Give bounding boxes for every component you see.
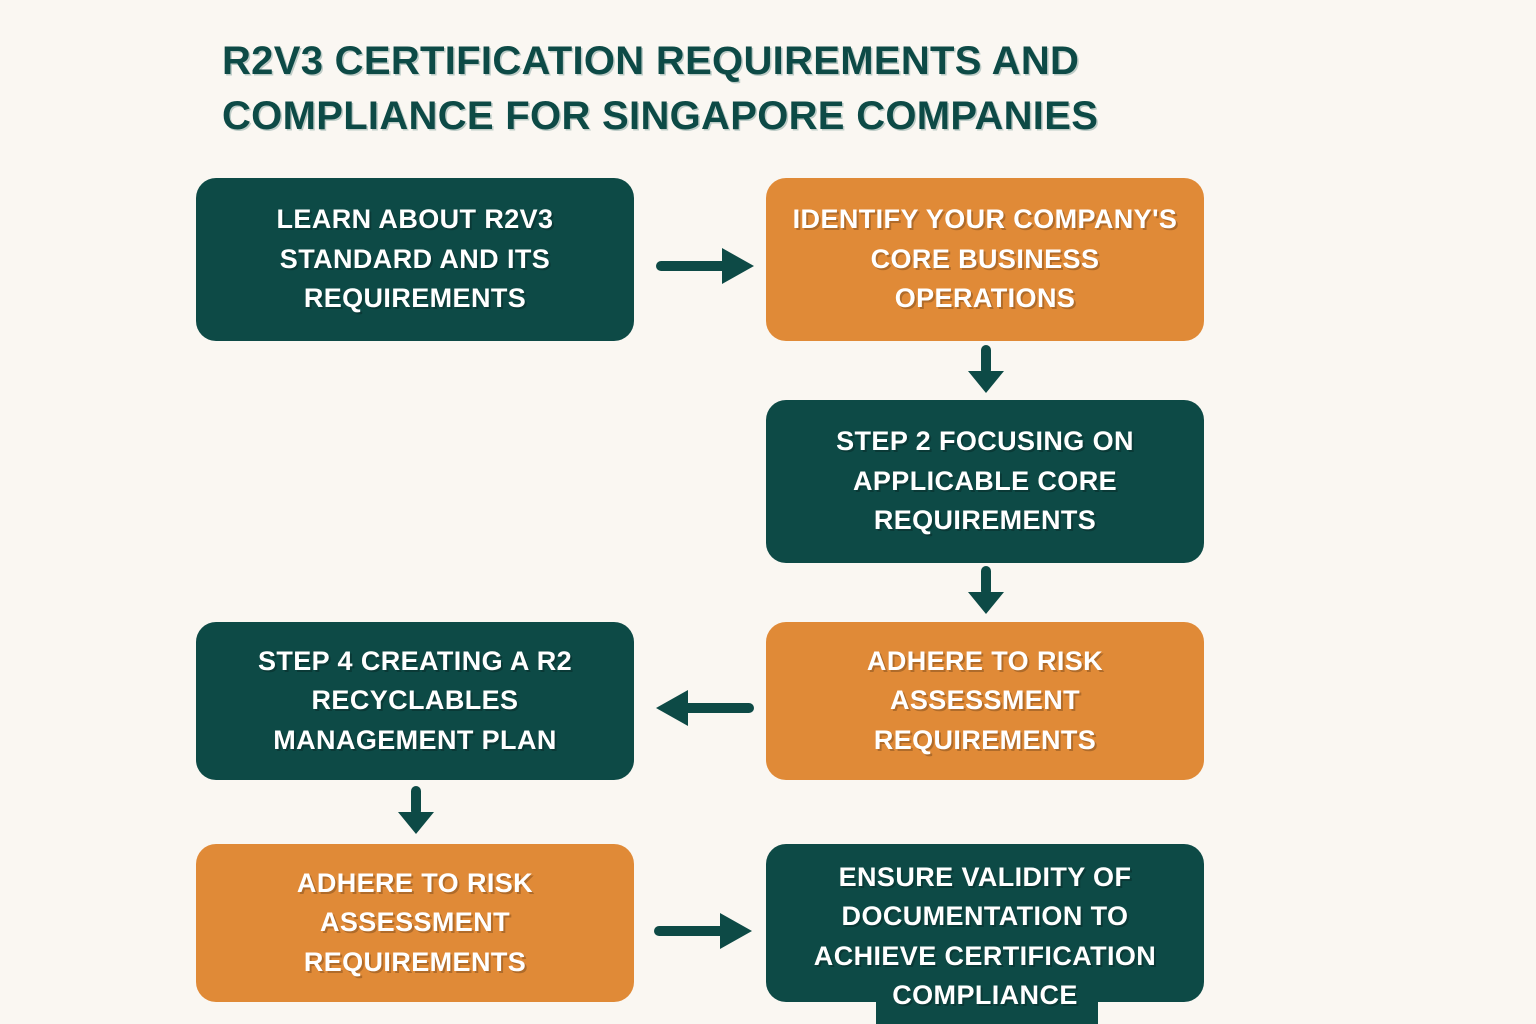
diagram-canvas: R2v3 Certification Requirements and Comp… xyxy=(0,0,1536,1024)
arrow-down-icon-1 xyxy=(963,345,1009,395)
flow-node-4[interactable]: ADHERE TO RISK ASSESSMENT REQUIREMENTS xyxy=(766,622,1204,780)
flow-node-4-label: ADHERE TO RISK ASSESSMENT REQUIREMENTS xyxy=(784,642,1186,760)
flow-node-3[interactable]: STEP 2 FOCUSING ON APPLICABLE CORE REQUI… xyxy=(766,400,1204,563)
page-title: R2v3 Certification Requirements and Comp… xyxy=(222,34,1222,144)
flow-node-6-label: ADHERE TO RISK ASSESSMENT REQUIREMENTS xyxy=(214,864,616,982)
arrow-left-icon-1 xyxy=(652,685,756,731)
arrow-down-icon-2 xyxy=(963,566,1009,616)
flow-node-7-label: ENSURE VALIDITY OF DOCUMENTATION TO ACHI… xyxy=(784,858,1186,1016)
flow-node-7[interactable]: ENSURE VALIDITY OF DOCUMENTATION TO ACHI… xyxy=(766,844,1204,1002)
arrow-down-icon-3 xyxy=(393,786,439,836)
flow-node-3-label: STEP 2 FOCUSING ON APPLICABLE CORE REQUI… xyxy=(784,422,1186,540)
flow-node-2[interactable]: IDENTIFY YOUR COMPANY'S CORE BUSINESS OP… xyxy=(766,178,1204,341)
flow-node-5[interactable]: STEP 4 CREATING A R2 RECYCLABLES MANAGEM… xyxy=(196,622,634,780)
flow-node-5-label: STEP 4 CREATING A R2 RECYCLABLES MANAGEM… xyxy=(214,642,616,760)
flow-node-2-label: IDENTIFY YOUR COMPANY'S CORE BUSINESS OP… xyxy=(784,200,1186,318)
flow-node-1[interactable]: LEARN ABOUT R2V3 STANDARD AND ITS REQUIR… xyxy=(196,178,634,341)
flow-node-1-label: LEARN ABOUT R2V3 STANDARD AND ITS REQUIR… xyxy=(214,200,616,318)
arrow-right-icon-1 xyxy=(654,243,758,289)
flow-node-6[interactable]: ADHERE TO RISK ASSESSMENT REQUIREMENTS xyxy=(196,844,634,1002)
arrow-right-icon-2 xyxy=(652,908,756,954)
